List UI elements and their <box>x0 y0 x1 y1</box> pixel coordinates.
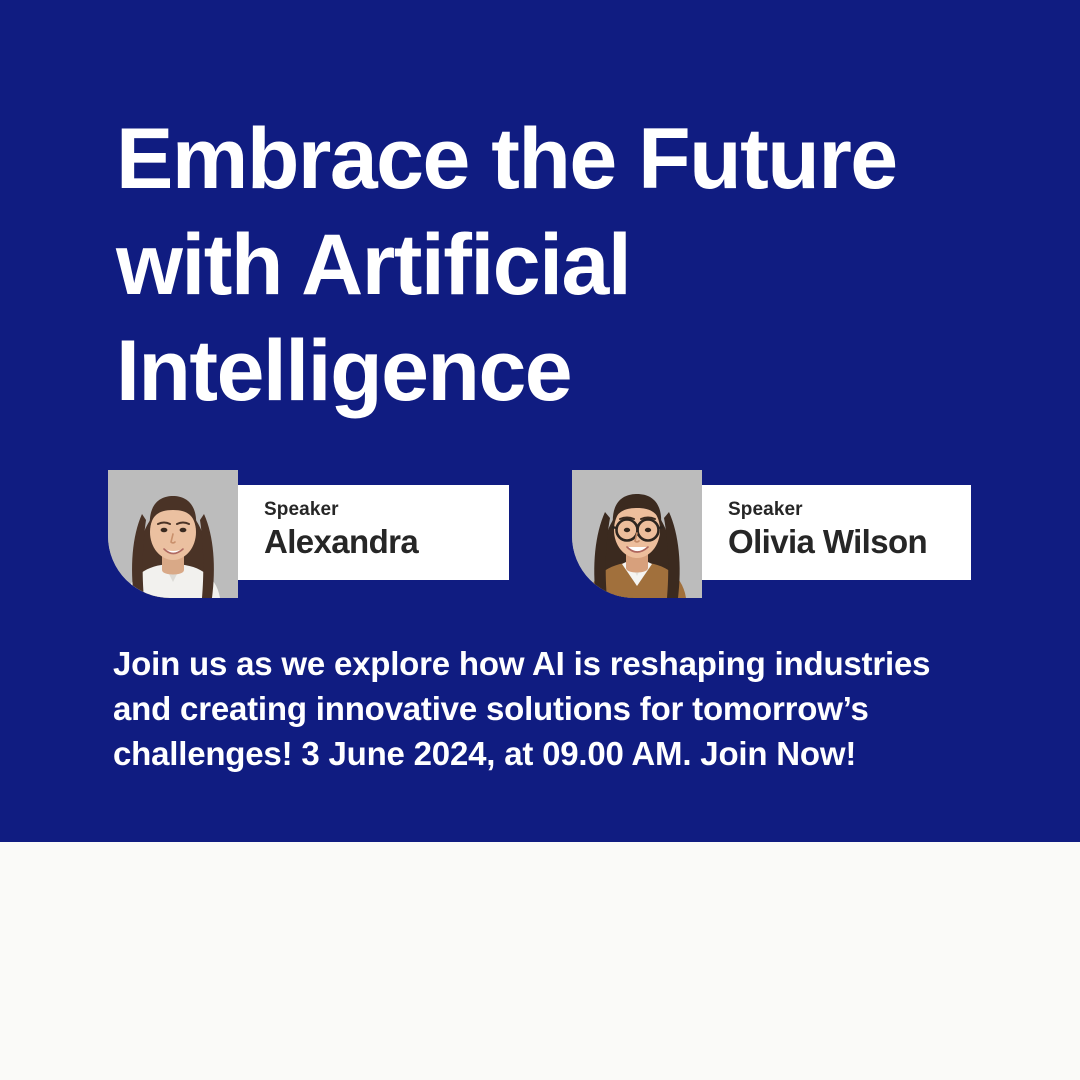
speaker-role-label: Speaker <box>264 499 509 521</box>
speaker-name-label: Alexandra <box>264 521 509 563</box>
poster-canvas: Embrace the Future with Artificial Intel… <box>0 0 1080 1080</box>
body-line-3: challenges! 3 June 2024, at 09.00 AM. Jo… <box>113 731 993 776</box>
headline-line-2: with Artificial <box>116 212 1016 318</box>
avatar <box>108 470 238 598</box>
avatar <box>572 470 702 598</box>
body-line-2: and creating innovative solutions for to… <box>113 686 993 731</box>
speaker-role-label: Speaker <box>728 499 971 521</box>
page-title: Embrace the Future with Artificial Intel… <box>116 106 1016 424</box>
hero-section: Embrace the Future with Artificial Intel… <box>0 0 1080 842</box>
speaker-info-panel: Speaker Alexandra <box>238 485 509 580</box>
headline-line-1: Embrace the Future <box>116 106 1016 212</box>
speaker-info-panel: Speaker Olivia Wilson <box>702 485 971 580</box>
headline-line-3: Intelligence <box>116 318 1016 424</box>
footer-section: Capcut Free Registration! Follow our soc… <box>0 842 1080 1080</box>
speaker-name-label: Olivia Wilson <box>728 521 971 563</box>
body-line-1: Join us as we explore how AI is reshapin… <box>113 641 993 686</box>
event-description: Join us as we explore how AI is reshapin… <box>113 641 993 776</box>
